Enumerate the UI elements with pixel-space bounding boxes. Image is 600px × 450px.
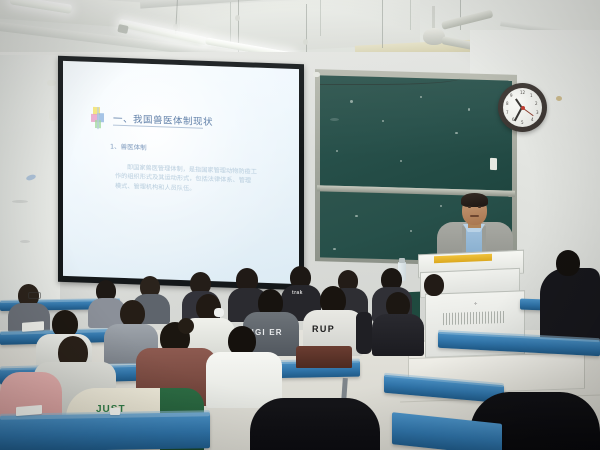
ceiling-hanger <box>382 0 383 48</box>
clock-numeral: 4 <box>531 117 534 122</box>
presenter-eye <box>478 206 481 208</box>
blackboard-panel-upper <box>320 75 512 190</box>
chalk-speck <box>333 248 336 250</box>
clock-face: 12 1 2 3 4 5 6 7 8 9 <box>503 88 542 127</box>
chalk-speck <box>410 230 412 232</box>
blackboard-eraser[interactable] <box>490 158 497 170</box>
clock-center-pin <box>521 106 525 110</box>
chalk-smudge <box>330 118 339 121</box>
chalk-speck <box>400 160 402 162</box>
chalk-speck <box>350 100 353 103</box>
podium-vent-grille <box>443 311 507 325</box>
clock-numeral: 6 <box>512 117 515 122</box>
paper-on-desk[interactable] <box>110 408 120 415</box>
wall-clock: 12 1 2 3 4 5 6 7 8 9 <box>498 83 547 132</box>
ceiling-hanger-knob <box>173 24 178 30</box>
ceiling-seam <box>320 0 321 36</box>
ceiling-seam <box>410 0 411 30</box>
wall-hook <box>556 96 562 101</box>
projection-screen[interactable]: 一、我国兽医体制现状 1、兽医体制 即国家兽医管理体制，是指国家管理动物防疫工 … <box>63 61 299 284</box>
slide-logo-icon <box>91 107 107 132</box>
chalk-speck <box>468 108 470 111</box>
student-hair-bun <box>178 318 194 334</box>
student-torso-nearest <box>250 398 380 450</box>
wall-mark <box>20 240 30 243</box>
chalk-speck <box>455 132 458 134</box>
ceiling-hanger-knob <box>235 15 240 21</box>
chalk-speck <box>382 120 384 122</box>
seat-back <box>296 346 352 368</box>
wall-bracket <box>47 80 56 86</box>
clock-numeral: 12 <box>520 90 525 95</box>
clock-numeral: 5 <box>521 120 524 125</box>
clock-numeral: 1 <box>530 93 533 98</box>
classroom-photo: 12 1 2 3 4 5 6 7 8 9 一、我国兽医体制现状 1、兽医体制 即… <box>0 0 600 450</box>
clock-numeral: 2 <box>535 101 538 106</box>
chalk-speck <box>420 96 422 98</box>
student-torso <box>372 314 424 356</box>
chalk-speck <box>336 150 338 152</box>
bottle-cap <box>399 258 405 263</box>
garment-text: trak <box>292 290 303 296</box>
clock-numeral: 9 <box>510 93 513 98</box>
ceiling-fan-rod <box>432 6 435 30</box>
student-head <box>424 274 444 296</box>
wall-mark <box>12 200 28 203</box>
garment-text: RUP <box>312 324 335 334</box>
presenter-hair <box>461 193 488 207</box>
clock-numeral: 8 <box>506 101 509 106</box>
student-head <box>556 250 580 276</box>
clock-numeral: 3 <box>536 110 539 115</box>
chalk-speck <box>355 215 358 217</box>
presenter-mouth <box>470 215 479 217</box>
student-backpack-strap <box>356 312 372 354</box>
chalk-speck <box>440 205 442 207</box>
wall-speaker <box>49 110 57 121</box>
student-head <box>120 300 145 327</box>
ceiling-hanger-knob <box>303 39 308 45</box>
slide-subtitle: 1、兽医体制 <box>110 141 147 152</box>
clock-numeral: 7 <box>506 110 509 115</box>
ceiling-seam <box>230 2 231 42</box>
paper-on-desk[interactable] <box>22 321 44 332</box>
face-mask <box>214 308 224 317</box>
eyeglasses <box>28 292 41 299</box>
presenter-eye <box>468 206 471 208</box>
cable-anchor <box>313 72 320 77</box>
